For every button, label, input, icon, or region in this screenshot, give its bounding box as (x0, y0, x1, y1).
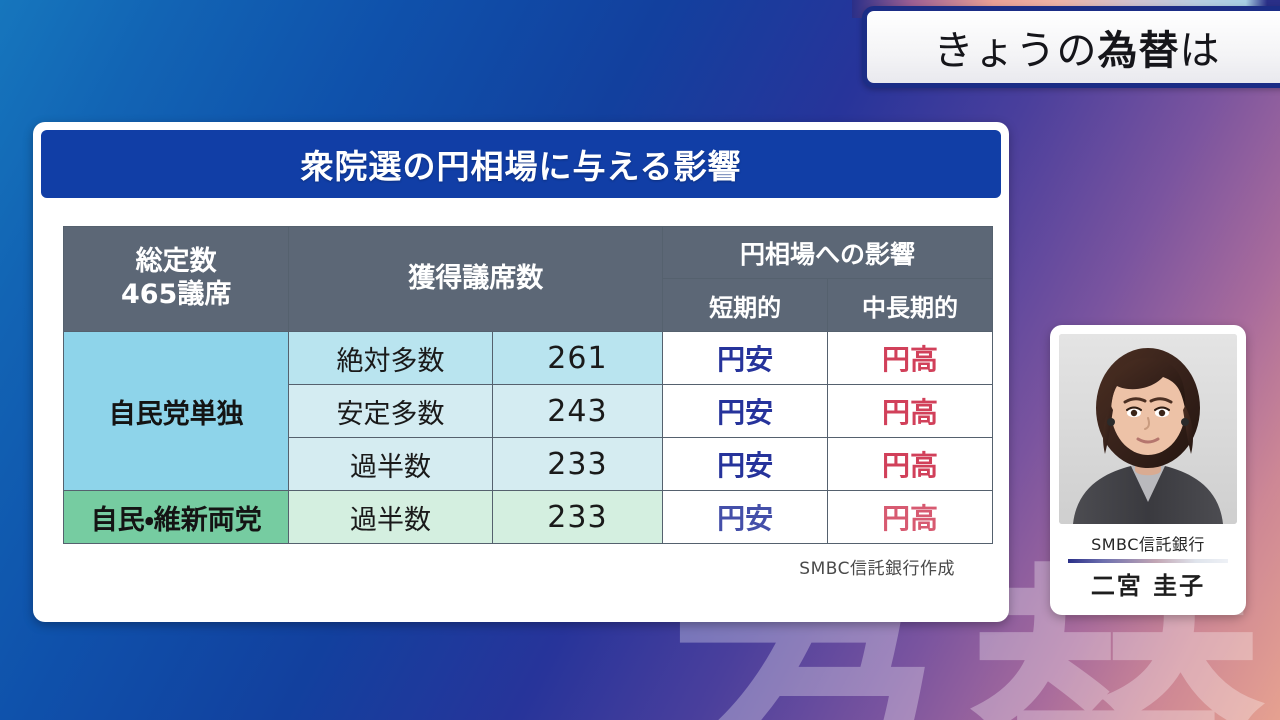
party-group-ldp-ishin: 自民・維新両党 (64, 491, 289, 544)
presenter-organization: SMBC信託銀行 (1091, 531, 1205, 555)
table-container: 総定数 465議席 獲得議席数 円相場への影響 短期的 中長期的 自民党単独 (41, 198, 1001, 579)
table-body: 自民党単独 絶対多数 261 円安 円高 安定多数 243 円安 円高 過半数 (64, 332, 993, 544)
impact-long-value: 円高 (882, 449, 938, 482)
banner-text: きょうの為替は (934, 18, 1221, 76)
banner-emphasis: 為替 (1098, 28, 1180, 74)
seat-count: 233 (492, 438, 662, 491)
header-total-seats: 総定数 465議席 (64, 227, 289, 332)
table-row: 自民党単独 絶対多数 261 円安 円高 (64, 332, 993, 385)
presenter-card: SMBC信託銀行 二宮 圭子 (1050, 325, 1246, 615)
impact-long-cell: 円高 (828, 438, 993, 491)
header-impact-long: 中長期的 (828, 279, 993, 332)
impact-short-cell: 円安 (663, 385, 828, 438)
impact-long-cell: 円高 (828, 491, 993, 544)
presenter-divider (1068, 559, 1228, 563)
header-impact-short: 短期的 (663, 279, 828, 332)
seat-count: 233 (492, 491, 662, 544)
impact-long-value: 円高 (882, 502, 938, 535)
card-title-text: 衆院選の円相場に与える影響 (300, 140, 741, 188)
impact-short-cell: 円安 (663, 438, 828, 491)
impact-short-cell: 円安 (663, 332, 828, 385)
seat-count: 261 (492, 332, 662, 385)
majority-type: 絶対多数 (289, 332, 492, 385)
table-head: 総定数 465議席 獲得議席数 円相場への影響 短期的 中長期的 (64, 227, 993, 332)
card-title-bar: 衆院選の円相場に与える影響 (41, 130, 1001, 198)
header-impact: 円相場への影響 (663, 227, 993, 279)
header-total-line2: 465議席 (64, 279, 288, 312)
election-impact-table: 総定数 465議席 獲得議席数 円相場への影響 短期的 中長期的 自民党単独 (63, 226, 993, 544)
impact-short-cell: 円安 (663, 491, 828, 544)
banner-prefix: きょうの (934, 28, 1098, 74)
majority-type: 過半数 (289, 491, 492, 544)
majority-type: 過半数 (289, 438, 492, 491)
header-won-seats: 獲得議席数 (289, 227, 663, 332)
table-row: 自民・維新両党 過半数 233 円安 円高 (64, 491, 993, 544)
impact-short-value: 円安 (717, 343, 773, 376)
table-source-note: SMBC信託銀行作成 (63, 544, 979, 579)
program-segment-banner: きょうの為替は (862, 6, 1280, 88)
impact-long-value: 円高 (882, 396, 938, 429)
majority-type: 安定多数 (289, 385, 492, 438)
impact-long-value: 円高 (882, 343, 938, 376)
banner-suffix: は (1180, 28, 1221, 74)
presenter-name: 二宮 圭子 (1091, 566, 1205, 601)
impact-short-value: 円安 (717, 502, 773, 535)
seat-count: 243 (492, 385, 662, 438)
header-row-top: 総定数 465議席 獲得議席数 円相場への影響 (64, 227, 993, 279)
broadcast-graphic-stage: 為替 きょうの為替は 衆院選の円相場に与える影響 総定数 (0, 0, 1280, 720)
impact-short-value: 円安 (717, 396, 773, 429)
presenter-photo (1059, 334, 1237, 524)
impact-short-value: 円安 (717, 449, 773, 482)
party-group-ldp-alone: 自民党単独 (64, 332, 289, 491)
impact-long-cell: 円高 (828, 385, 993, 438)
presenter-portrait-illustration (1059, 334, 1237, 524)
header-total-line1: 総定数 (64, 246, 288, 279)
main-content-card: 衆院選の円相場に与える影響 総定数 465議席 (33, 122, 1009, 622)
impact-long-cell: 円高 (828, 332, 993, 385)
